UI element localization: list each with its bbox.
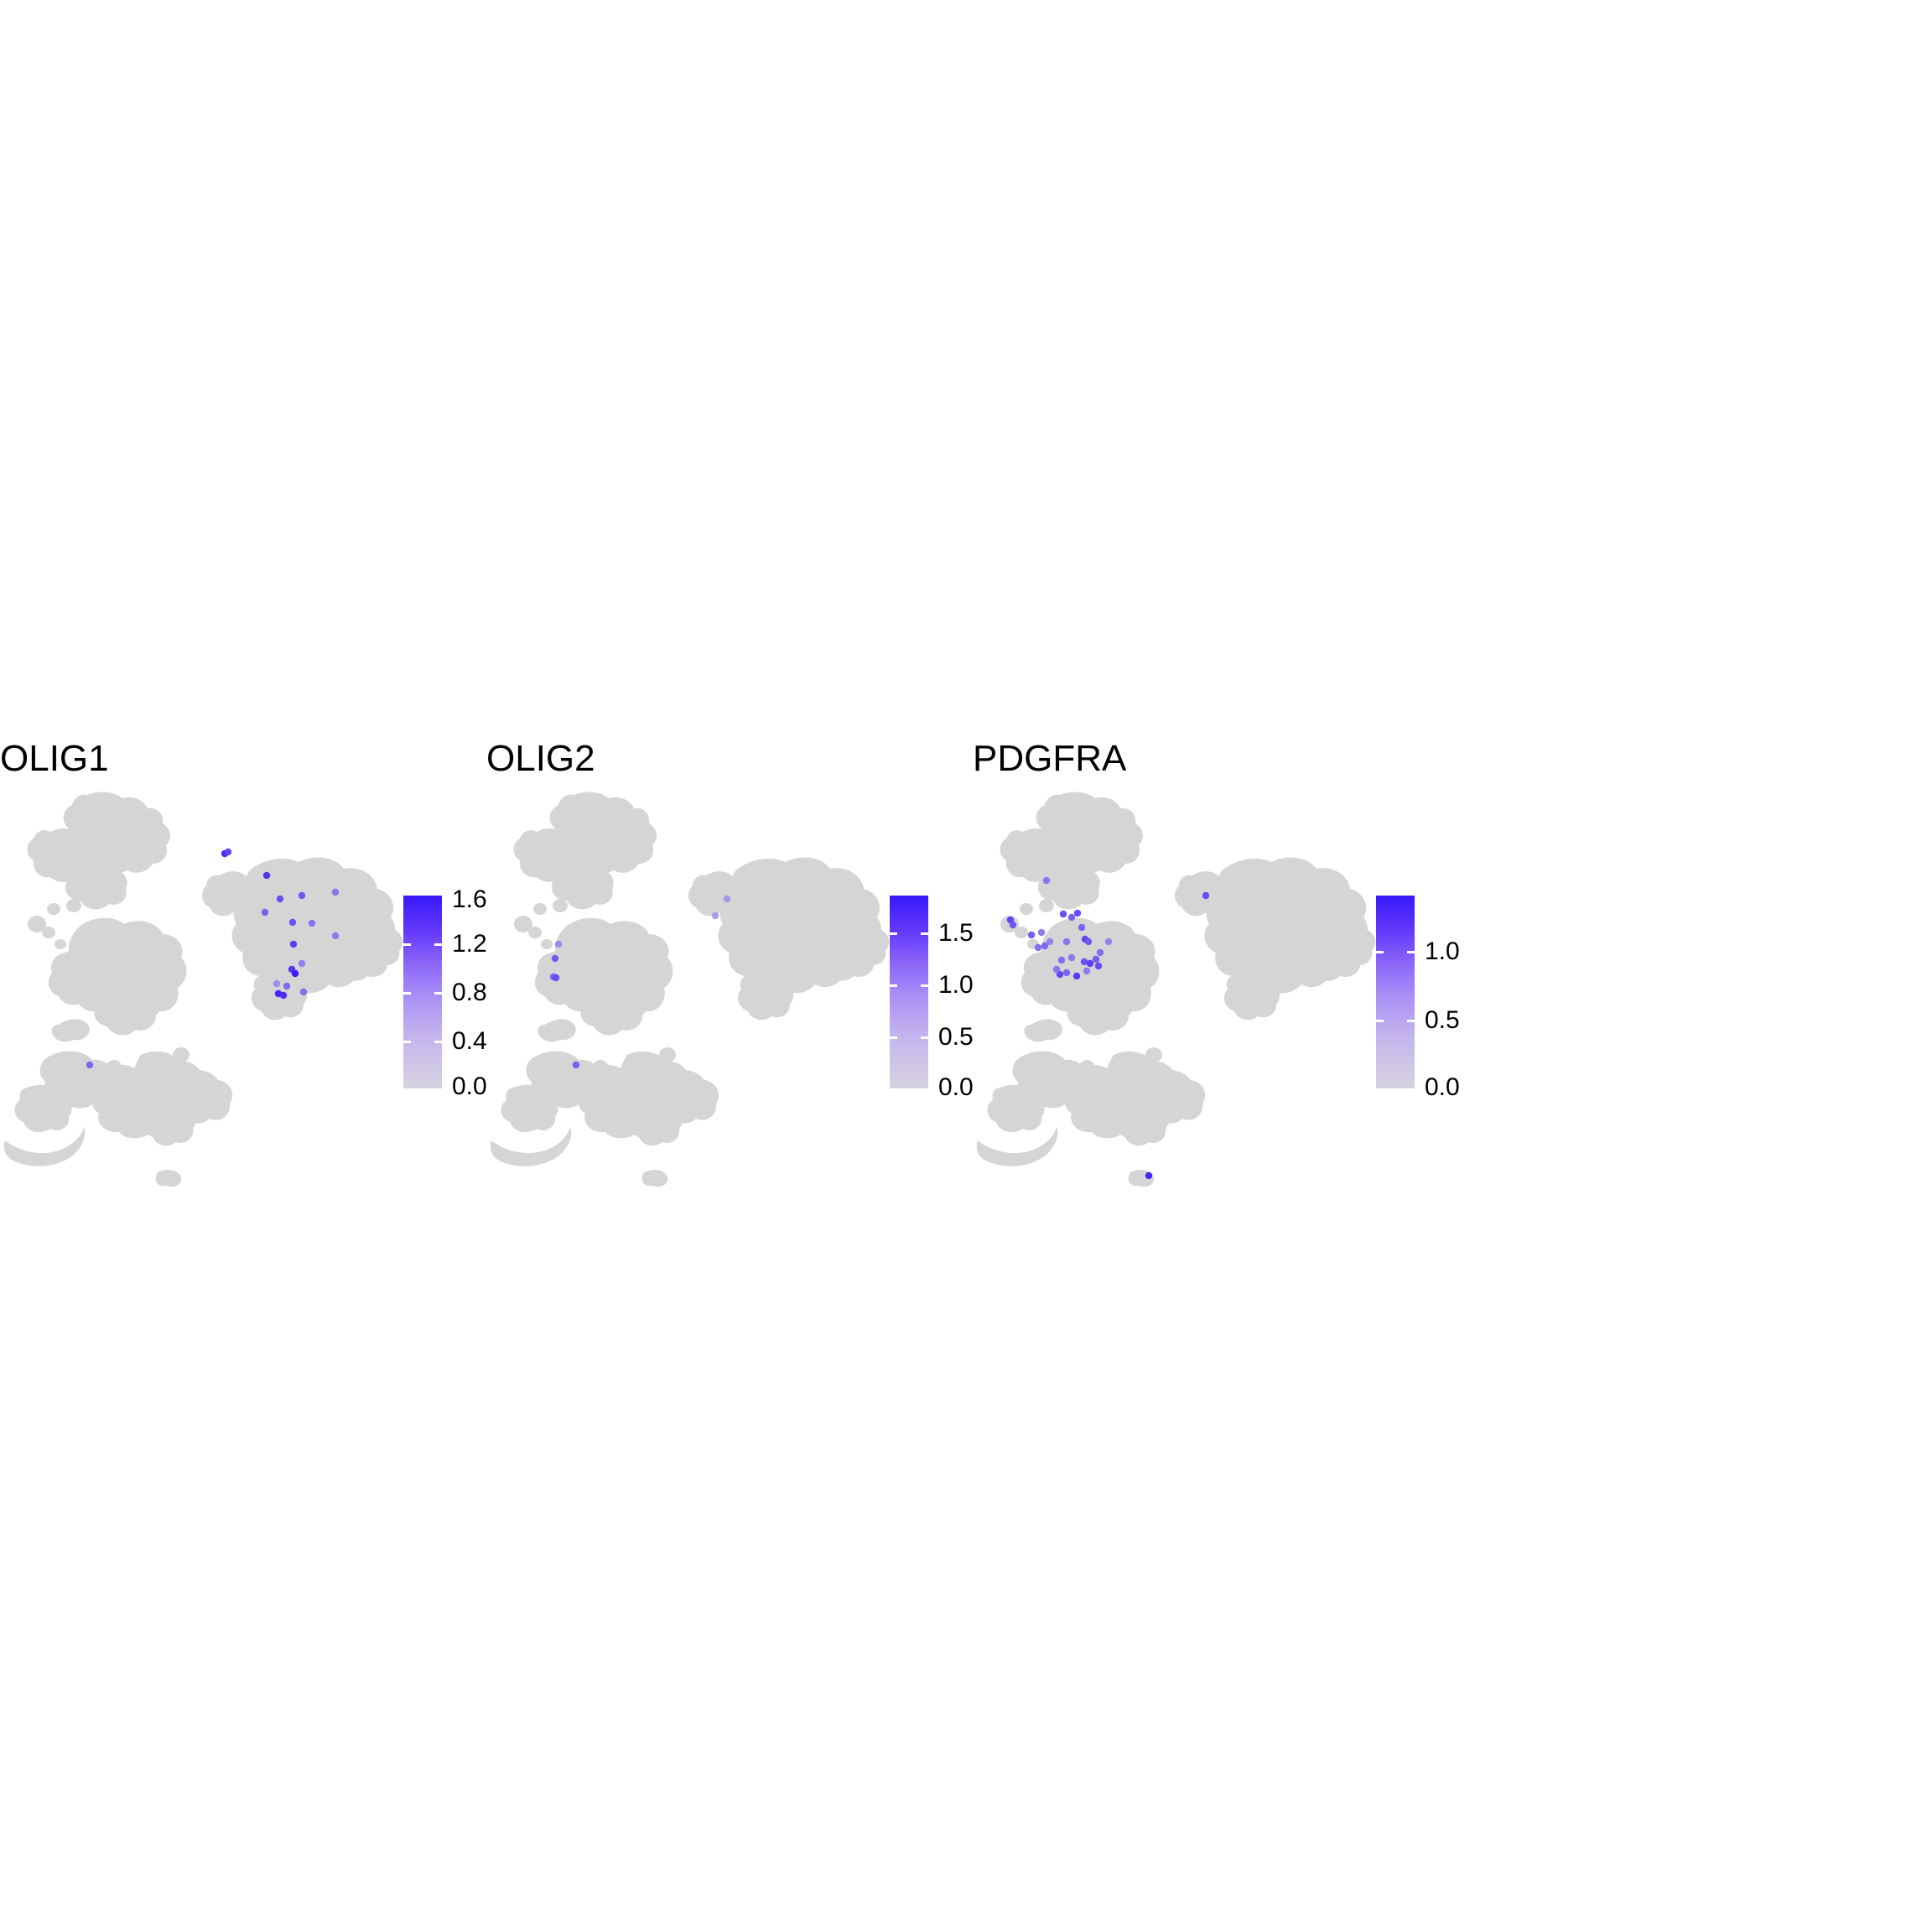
umap-point xyxy=(552,955,558,962)
umap-point xyxy=(1038,929,1045,936)
umap-point xyxy=(299,960,305,967)
colorbar-tick-label: 1.0 xyxy=(1425,937,1460,966)
colorbar-gradient-olig2 xyxy=(890,896,928,1088)
umap-point xyxy=(1093,956,1099,963)
umap-point xyxy=(292,970,299,977)
feature-plot-figure: OLIG1 xyxy=(0,0,1932,1932)
umap-point xyxy=(1097,949,1104,956)
umap-point xyxy=(1035,944,1041,951)
colorbar-tick-label: 0.0 xyxy=(938,1073,974,1102)
colorbar-gradient-pdgfra xyxy=(1376,896,1415,1088)
umap-point xyxy=(86,1062,93,1068)
umap-point xyxy=(1083,968,1090,974)
umap-background-points xyxy=(491,792,889,1187)
umap-point xyxy=(1105,938,1112,945)
umap-point xyxy=(309,920,315,927)
umap-point xyxy=(1087,960,1093,967)
umap-point xyxy=(1145,1172,1152,1179)
colorbar-tick-label: 1.6 xyxy=(452,885,487,914)
umap-point xyxy=(1202,892,1209,899)
umap-point xyxy=(1043,877,1050,884)
umap-point xyxy=(290,941,297,948)
umap-point xyxy=(299,892,305,899)
panel-pdgfra: PDGFRA 1.0 0.5 0.0 xyxy=(973,738,1617,1241)
umap-point xyxy=(555,941,562,948)
umap-point xyxy=(332,932,339,939)
umap-point xyxy=(1074,910,1081,917)
umap-point xyxy=(1063,938,1070,945)
umap-point xyxy=(280,992,287,999)
umap-point xyxy=(1068,954,1075,961)
umap-point xyxy=(1063,969,1070,976)
umap-point xyxy=(283,983,290,989)
colorbar-tick-label: 1.0 xyxy=(938,971,974,1000)
umap-point xyxy=(273,980,280,987)
colorbar-tick-label: 0.0 xyxy=(1425,1073,1460,1102)
colorbar-gradient-olig1 xyxy=(403,896,442,1088)
umap-background-points xyxy=(4,792,402,1187)
colorbar-tick-label: 0.5 xyxy=(1425,1006,1460,1035)
panel-title-olig2: OLIG2 xyxy=(486,738,595,780)
umap-background-points xyxy=(977,792,1375,1187)
colorbar-tick-label: 0.4 xyxy=(452,1027,487,1056)
umap-point xyxy=(1046,938,1053,945)
panel-title-olig1: OLIG1 xyxy=(0,738,109,780)
umap-point xyxy=(225,849,231,855)
umap-point xyxy=(277,896,283,902)
umap-point xyxy=(1058,957,1065,963)
umap-point xyxy=(1060,911,1067,917)
colorbar-tick-label: 1.5 xyxy=(938,919,974,948)
umap-point xyxy=(724,896,730,902)
umap-point xyxy=(1073,973,1080,979)
colorbar-tick-label: 0.8 xyxy=(452,979,487,1007)
umap-point xyxy=(1078,924,1085,931)
umap-point xyxy=(553,974,559,981)
umap-point xyxy=(262,909,268,916)
umap-point xyxy=(1010,922,1016,928)
umap-point xyxy=(573,1062,579,1068)
colorbar-pdgfra: 1.0 0.5 0.0 xyxy=(1376,896,1527,1147)
umap-point xyxy=(263,872,270,879)
umap-point xyxy=(1068,914,1075,921)
colorbar-tick-label: 0.5 xyxy=(938,1023,974,1052)
umap-point xyxy=(332,889,339,896)
umap-point xyxy=(300,989,307,995)
umap-point xyxy=(712,912,719,919)
panel-title-pdgfra: PDGFRA xyxy=(973,738,1126,780)
umap-point xyxy=(1053,966,1060,973)
umap-point xyxy=(1095,963,1102,969)
umap-point xyxy=(1028,932,1035,938)
colorbar-tick-label: 0.0 xyxy=(452,1072,487,1101)
umap-point xyxy=(1085,938,1092,945)
colorbar-tick-label: 1.2 xyxy=(452,930,487,958)
umap-point xyxy=(289,919,296,926)
